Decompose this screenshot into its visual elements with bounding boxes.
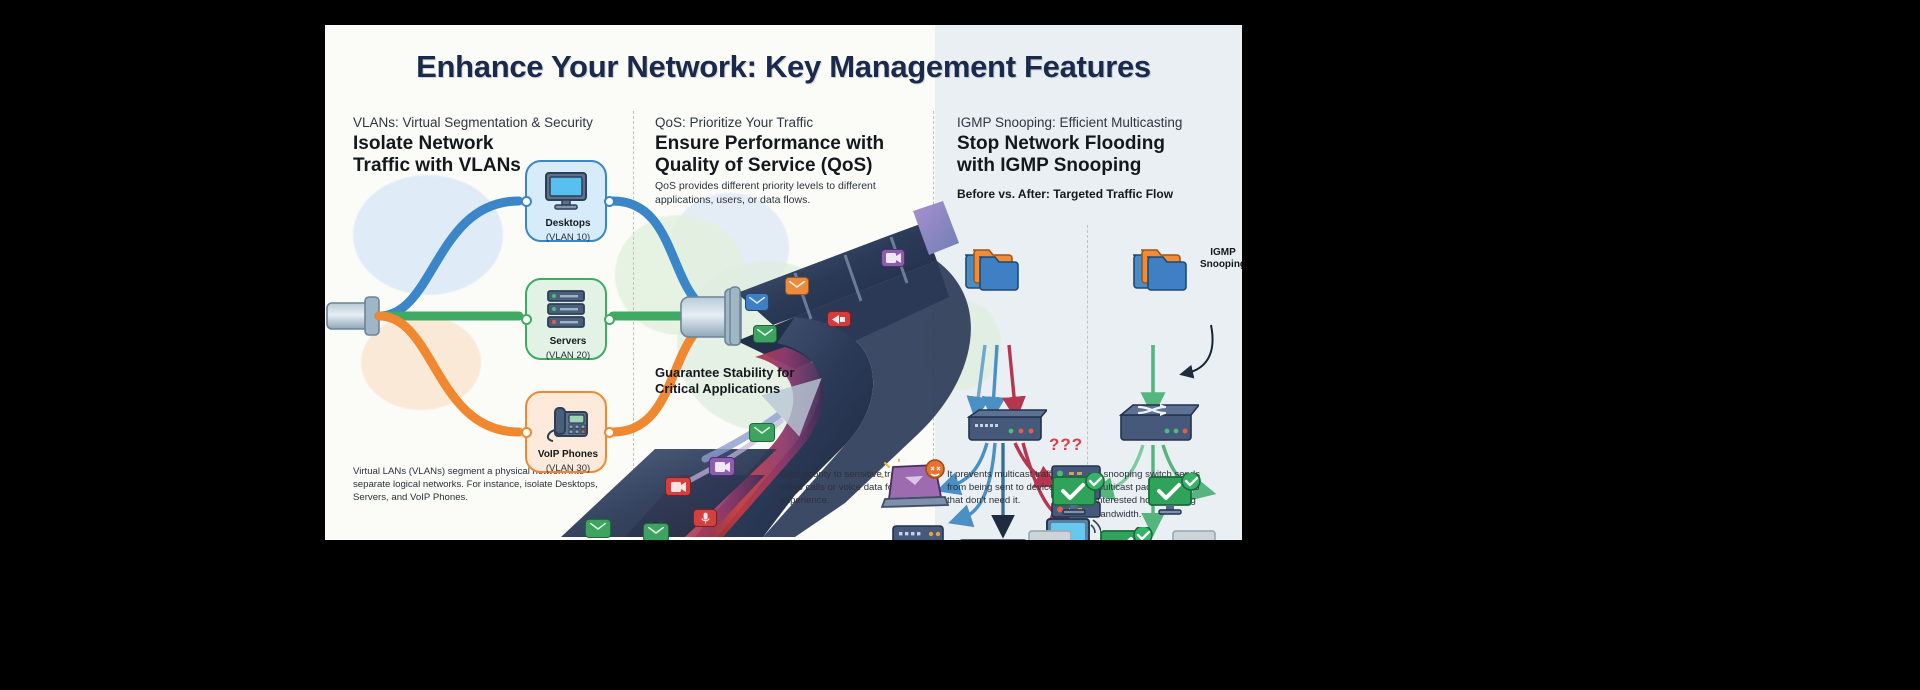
subscribed-monitor-3: [1097, 527, 1159, 540]
node-port-right: [604, 196, 615, 207]
packet-envelope-blue: [745, 293, 769, 311]
igmp-snooping-annotation: IGMP Snooping: [1193, 247, 1242, 271]
igmp-before-after-label: Before vs. After: Targeted Traffic Flow: [957, 187, 1173, 201]
subscribed-monitor-2: [1145, 473, 1207, 519]
snooping-switch-icon: [1115, 401, 1199, 447]
screenshot-stage: Enhance Your Network: Key Management Fea…: [0, 0, 1920, 690]
vlans-kicker: VLANs: Virtual Segmentation & Security: [353, 115, 593, 130]
igmp-heading-line1: Stop Network Flooding: [957, 133, 1165, 155]
multicast-folder-stack-after: [1131, 247, 1187, 293]
decorative-blob-green-center: [677, 261, 857, 431]
igmp-heading: Stop Network Flooding with IGMP Snooping: [957, 133, 1165, 177]
packet-envelope-green: [753, 325, 777, 343]
unsubscribed-monitor-2: [1169, 527, 1225, 540]
vlan-node-label: Servers: [505, 336, 631, 347]
confusion-question-marks: ???: [1049, 435, 1083, 455]
overloaded-laptop-icon: [881, 459, 949, 513]
divider-col1-col2: [633, 111, 634, 471]
node-port-left: [521, 314, 532, 325]
divider-col2-col3: [933, 111, 934, 471]
qos-heading-line1: Ensure Performance with: [655, 133, 884, 155]
packet-envelope-green-lower2: [643, 523, 669, 540]
vlan-node-sublabel: (VLAN 20): [505, 350, 631, 361]
igmp-annotation-line1: IGMP: [1193, 247, 1242, 259]
igmp-heading-line2: with IGMP Snooping: [957, 155, 1165, 177]
qos-mid-heading-line1: Guarantee Stability for: [655, 365, 794, 381]
qos-heading: Ensure Performance with Quality of Servi…: [655, 133, 884, 177]
igmp-annotation-line2: Snooping: [1193, 259, 1242, 271]
server-icon: [544, 289, 588, 329]
multicast-folder-stack-before: [963, 247, 1019, 293]
node-port-left: [521, 427, 532, 438]
unsubscribed-monitor-1: [1025, 527, 1081, 540]
packet-envelope-green-mid: [749, 423, 775, 442]
vlans-heading-line2: Traffic with VLANs: [353, 155, 521, 177]
qos-mid-heading-line2: Critical Applications: [655, 381, 794, 397]
page-title: Enhance Your Network: Key Management Fea…: [325, 49, 1242, 85]
idle-switch-left-icon: [891, 521, 945, 540]
vlan-node-voip-phones[interactable]: VoIP Phones (VLAN 30): [525, 391, 607, 473]
packet-record-red: [827, 311, 851, 327]
packet-envelope-orange: [785, 277, 809, 295]
qos-kicker: QoS: Prioritize Your Traffic: [655, 115, 813, 130]
packet-mic-red: [693, 509, 717, 527]
vlans-heading: Isolate Network Traffic with VLANs: [353, 133, 521, 177]
node-port-right: [604, 427, 615, 438]
desktop-icon: [542, 171, 590, 211]
vlan-node-desktops[interactable]: Desktops (VLAN 10): [525, 160, 607, 242]
qos-subparagraph: QoS provides different priority levels t…: [655, 180, 900, 208]
vlans-heading-line1: Isolate Network: [353, 133, 521, 155]
packet-envelope-green-lower1: [585, 519, 611, 538]
node-port-left: [521, 196, 532, 207]
vlan-node-label: VoIP Phones: [505, 449, 631, 460]
decorative-blob-orange-left: [361, 315, 481, 410]
qos-mid-heading: Guarantee Stability for Critical Applica…: [655, 365, 794, 398]
vlan-node-sublabel: (VLAN 30): [505, 463, 631, 474]
vlan-node-sublabel: (VLAN 10): [505, 232, 631, 243]
node-port-right: [604, 314, 615, 325]
infographic-poster: Enhance Your Network: Key Management Fea…: [325, 25, 1242, 540]
vlan-node-label: Desktops: [505, 218, 631, 229]
idle-switch-bottom-icon: [957, 535, 1029, 540]
vlan-node-servers[interactable]: Servers (VLAN 20): [525, 278, 607, 360]
decorative-blob-blue-left: [353, 175, 503, 295]
phone-icon: [541, 402, 591, 442]
igmp-kicker: IGMP Snooping: Efficient Multicasting: [957, 115, 1182, 130]
packet-video-red-lower: [665, 477, 691, 496]
subscribed-monitor-1: [1049, 473, 1111, 519]
flooding-switch-icon: [963, 405, 1047, 445]
packet-video-purple: [881, 249, 905, 267]
qos-heading-line2: Quality of Service (QoS): [655, 155, 884, 177]
packet-video-purple-lower: [709, 457, 735, 476]
